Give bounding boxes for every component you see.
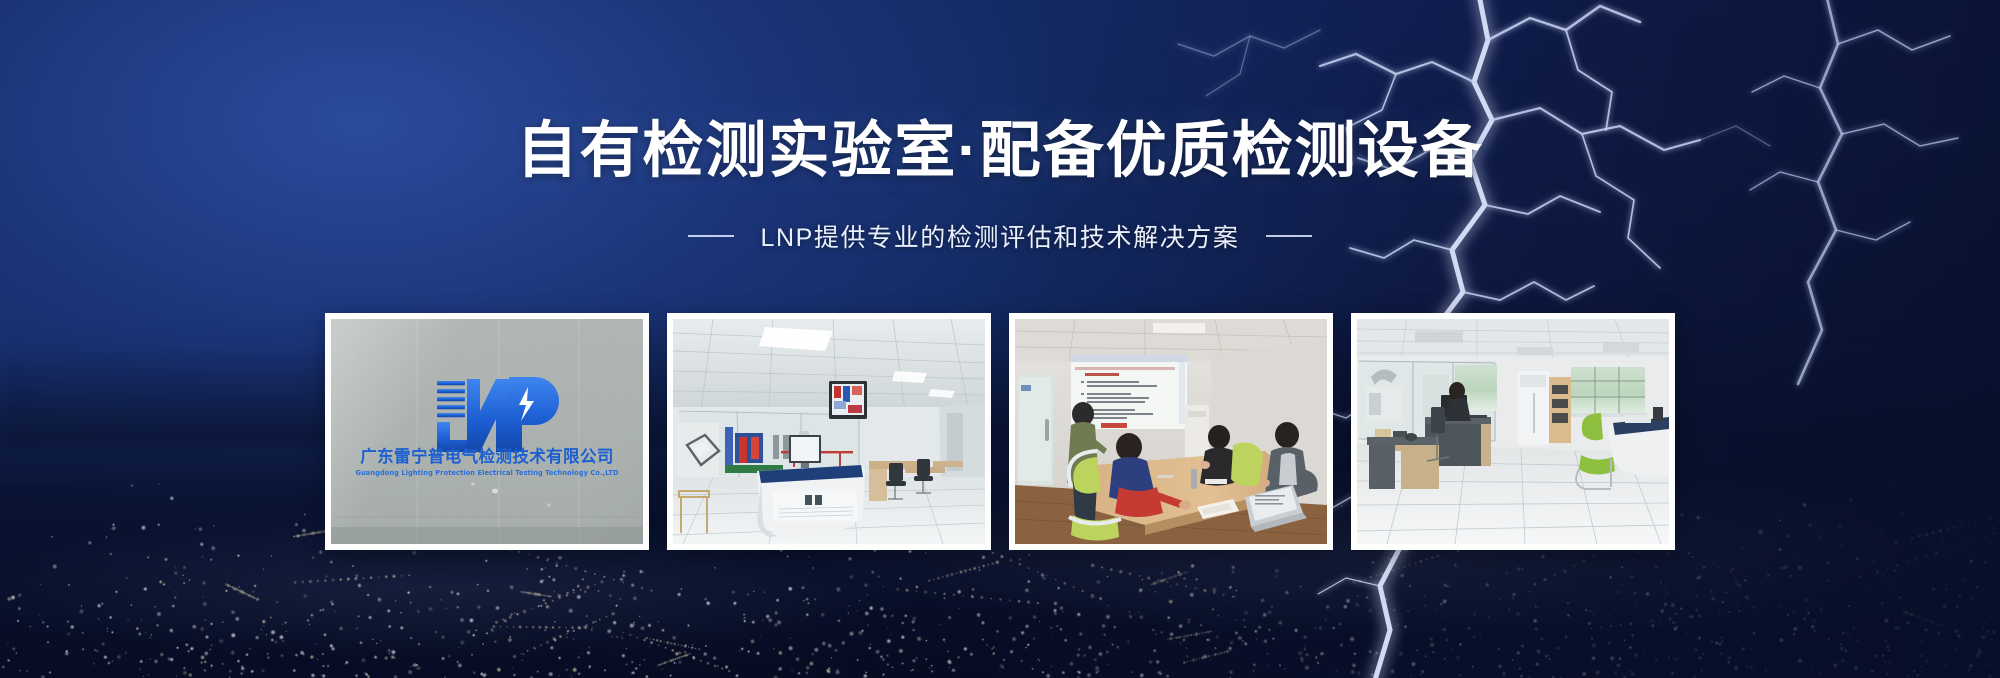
photo-gallery: 广东雷宁普电气检测技术有限公司 Guangdong Lighting Prote… — [325, 313, 1675, 550]
photo-company-signboard: 广东雷宁普电气检测技术有限公司 Guangdong Lighting Prote… — [331, 319, 643, 544]
svg-text:Guangdong Lighting Protection: Guangdong Lighting Protection Electrical… — [355, 469, 618, 477]
subtitle-block: LNP提供专业的检测评估和技术解决方案 — [0, 218, 2000, 254]
gallery-item-alt-4: 办公区办公室 — [1357, 544, 1358, 545]
hero-banner: 自有检测实验室·配备优质检测设备 LNP提供专业的检测评估和技术解决方案 — [0, 0, 2000, 678]
page-subtitle: LNP提供专业的检测评估和技术解决方案 — [760, 218, 1239, 254]
dash-right — [1266, 235, 1312, 237]
page-title: 自有检测实验室·配备优质检测设备 — [516, 118, 1483, 182]
gallery-item-alt-2: 检测实验室与控制台 — [673, 544, 674, 545]
photo-training-meeting-room — [1015, 319, 1327, 544]
photo-testing-laboratory — [673, 319, 985, 544]
gallery-item-testing-laboratory[interactable]: 检测实验室与控制台 — [667, 313, 991, 550]
gallery-item-office-workspace[interactable]: 办公区办公室 — [1351, 313, 1675, 550]
gallery-item-alt-1: 公司前台标识墙 — [331, 544, 332, 545]
gallery-item-company-signboard[interactable]: 广东雷宁普电气检测技术有限公司 Guangdong Lighting Prote… — [325, 313, 649, 550]
dash-left — [688, 235, 734, 237]
headline-block: 自有检测实验室·配备优质检测设备 — [0, 118, 2000, 182]
photo-office-workspace — [1357, 319, 1669, 544]
svg-text:广东雷宁普电气检测技术有限公司: 广东雷宁普电气检测技术有限公司 — [360, 446, 614, 466]
gallery-item-training-meeting-room[interactable]: 会议培训室投影演示 — [1009, 313, 1333, 550]
gallery-item-alt-3: 会议培训室投影演示 — [1015, 544, 1016, 545]
